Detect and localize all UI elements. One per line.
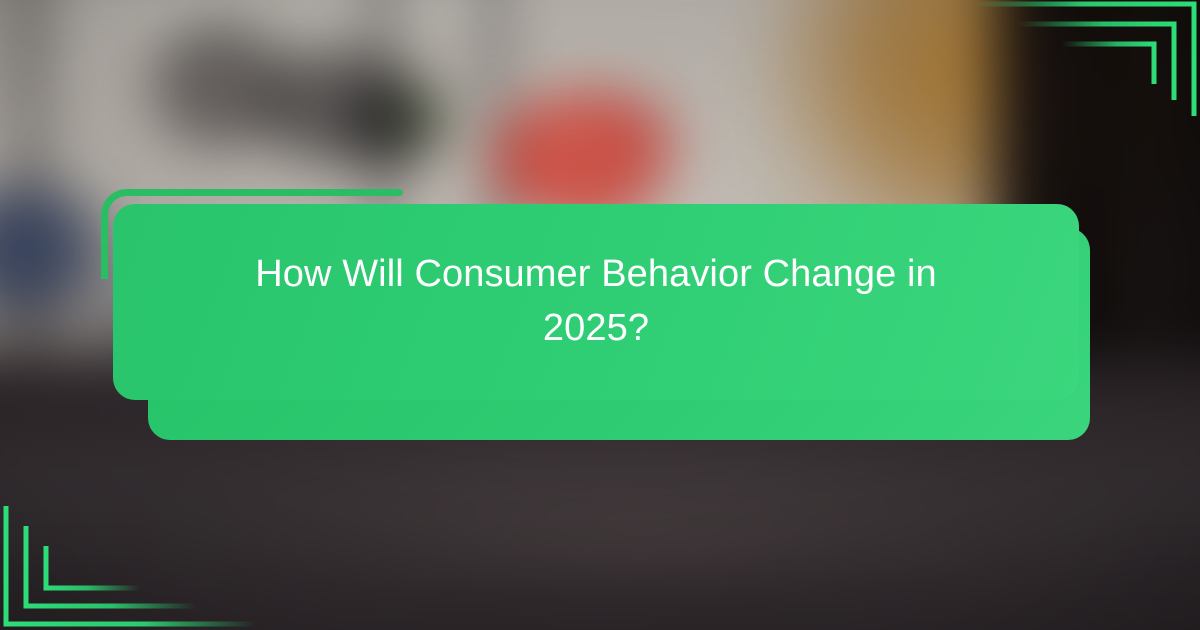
corner-bracket-bottom-left-icon xyxy=(0,500,260,630)
title-card: How Will Consumer Behavior Change in 202… xyxy=(113,204,1079,400)
page-title: How Will Consumer Behavior Change in 202… xyxy=(226,248,966,356)
share-card-canvas: How Will Consumer Behavior Change in 202… xyxy=(0,0,1200,630)
corner-bracket-top-right-icon xyxy=(970,0,1200,120)
